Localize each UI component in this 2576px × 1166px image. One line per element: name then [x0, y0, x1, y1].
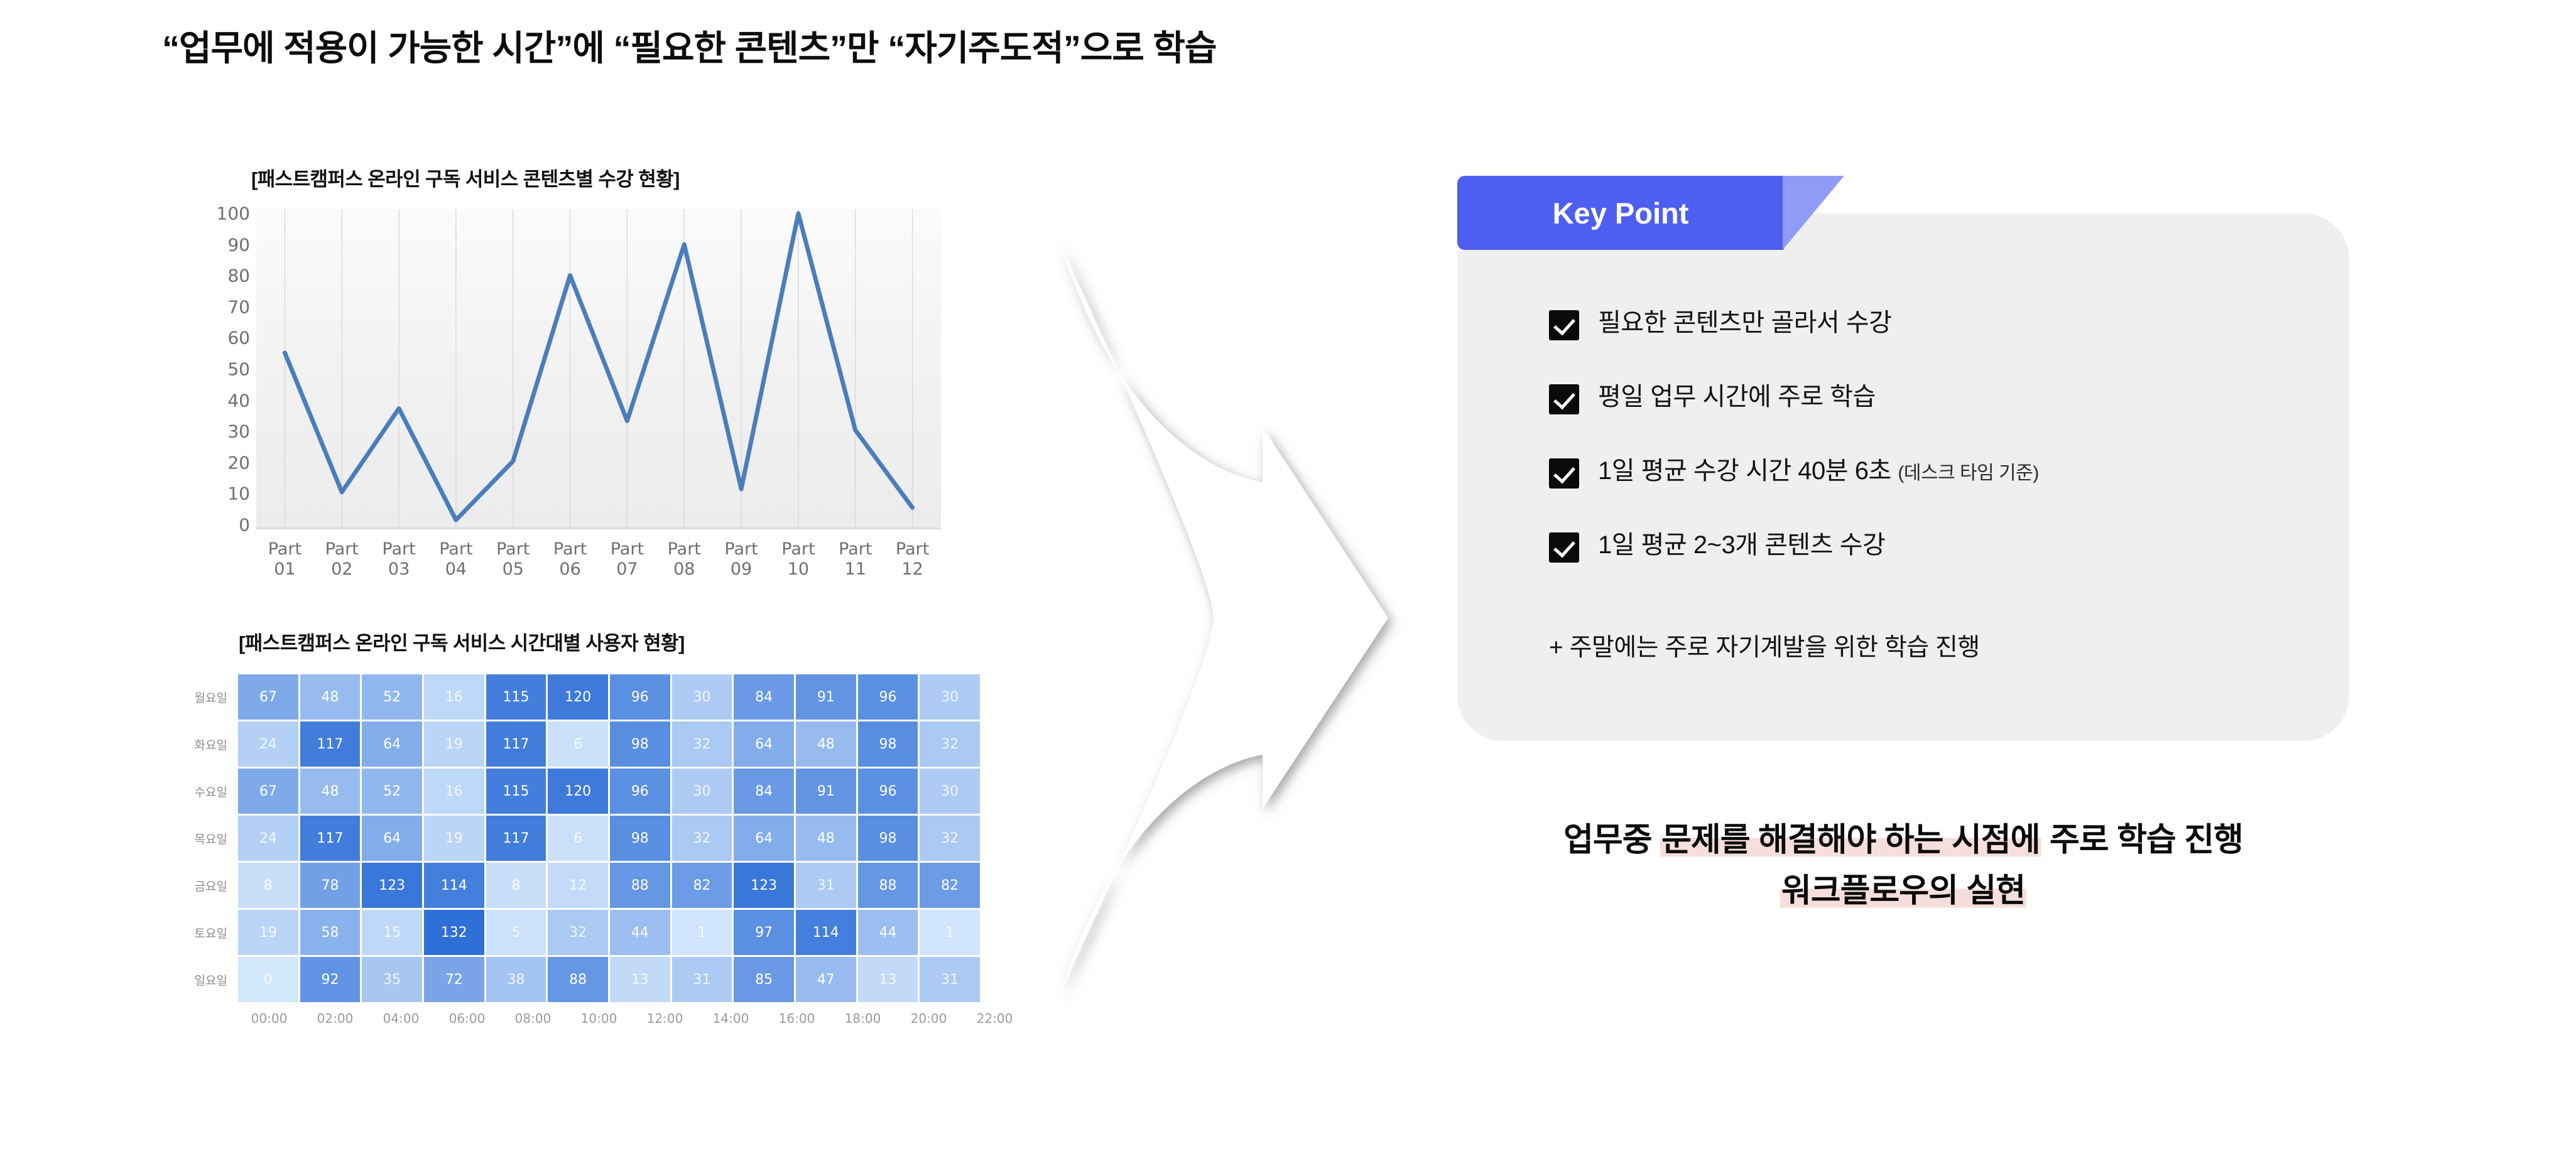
- heatmap-title: [패스트캠퍼스 온라인 구독 서비스 시간대별 사용자 현황]: [239, 627, 999, 656]
- line-chart-x-tick: Part 06: [553, 539, 587, 580]
- conclusion-line-2: 워크플로우의 실현: [1457, 866, 2349, 917]
- heatmap-cell: 132: [424, 910, 484, 955]
- line-chart-y-tick: 40: [227, 390, 250, 411]
- heatmap-cell: 64: [734, 721, 794, 767]
- heatmap-cell: 0: [238, 957, 298, 1002]
- conclusion-block: 업무중 문제를 해결해야 하는 시점에 주로 학습 진행 워크플로우의 실현: [1457, 815, 2349, 916]
- heatmap-row-label: 일요일: [188, 957, 236, 1002]
- heatmap-cell: 64: [362, 816, 422, 861]
- heatmap-cell: 120: [548, 674, 608, 720]
- heatmap-cell: 5: [486, 910, 546, 955]
- heatmap-cell: 88: [610, 863, 670, 908]
- line-chart-x-tick: Part 11: [839, 539, 872, 580]
- charts-column: [패스트캠퍼스 온라인 구독 서비스 콘텐츠별 수강 현황] 100908070…: [188, 163, 1018, 1026]
- heatmap-time-label: 16:00: [764, 1011, 830, 1026]
- key-point-item-label: 1일 평균 2~3개 콘텐츠 수강: [1598, 530, 1885, 560]
- line-chart-x-tick: Part 08: [668, 539, 701, 580]
- key-point-item: 1일 평균 2~3개 콘텐츠 수강: [1549, 530, 2349, 563]
- line-chart: 1009080706050403020100 Part 01Part 02Par…: [188, 209, 992, 586]
- heatmap-cell: 48: [300, 769, 361, 814]
- heatmap-cell: 35: [362, 957, 422, 1002]
- heatmap-cell: 117: [300, 816, 361, 861]
- key-point-item: 평일 업무 시간에 주로 학습: [1549, 382, 2349, 414]
- heatmap-cell: 30: [920, 769, 980, 814]
- line-chart-x-tick: Part 12: [896, 539, 929, 580]
- heatmap-time-label: 04:00: [368, 1011, 434, 1026]
- line-chart-y-tick: 90: [227, 234, 250, 255]
- heatmap-time-label: 10:00: [566, 1011, 632, 1026]
- heatmap-cell: 97: [734, 910, 794, 955]
- line-chart-x-tick: Part 04: [439, 539, 472, 580]
- heatmap-cell: 32: [672, 816, 732, 861]
- heatmap-row-label: 수요일: [188, 769, 236, 814]
- heatmap-cell: 98: [610, 721, 670, 767]
- heatmap-cell: 67: [238, 769, 298, 814]
- line-chart-x-tick: Part 03: [382, 539, 415, 580]
- heatmap-cell: 52: [362, 674, 422, 720]
- key-point-item-label: 필요한 콘텐츠만 골라서 수강: [1598, 308, 1891, 338]
- heatmap-time-label: 00:00: [236, 1011, 302, 1026]
- heatmap-cell: 123: [362, 863, 422, 908]
- heatmap-cell: 85: [734, 957, 794, 1002]
- heatmap-row-label: 토요일: [188, 910, 236, 955]
- conclusion-line-2-highlight: 워크플로우의 실현: [1780, 873, 2026, 909]
- conclusion-line-1-pre: 업무중: [1563, 822, 1660, 858]
- heatmap-cell: 117: [486, 721, 546, 767]
- heatmap-cell: 96: [610, 674, 670, 720]
- heatmap-cell: 91: [796, 769, 856, 814]
- key-point-badge-tail: [1783, 176, 1844, 250]
- line-chart-plot-area: [256, 209, 941, 529]
- line-chart-series: [285, 213, 912, 520]
- heatmap-time-label: 18:00: [830, 1011, 896, 1026]
- line-chart-title: [패스트캠퍼스 온라인 구독 서비스 콘텐츠별 수강 현황]: [251, 163, 1018, 192]
- heatmap-cell: 117: [300, 721, 361, 767]
- heatmap-time-label: 22:00: [962, 1011, 1028, 1026]
- key-point-item-label: 1일 평균 수강 시간 40분 6초 (데스크 타임 기준): [1598, 456, 2039, 486]
- key-point-item: 1일 평균 수강 시간 40분 6초 (데스크 타임 기준): [1549, 456, 2349, 489]
- heatmap-cell: 52: [362, 769, 422, 814]
- line-chart-y-tick: 70: [227, 296, 250, 317]
- key-point-label: Key Point: [1553, 196, 1689, 230]
- heatmap-cell: 82: [672, 863, 732, 908]
- line-chart-x-tick: Part 09: [724, 539, 758, 580]
- check-icon: [1549, 384, 1579, 414]
- line-chart-y-tick: 30: [227, 421, 250, 442]
- heatmap-cell: 64: [734, 816, 794, 861]
- line-chart-y-tick: 0: [239, 515, 250, 536]
- heatmap-cell: 6: [548, 816, 608, 861]
- heatmap-cell: 84: [734, 674, 794, 720]
- heatmap-cell: 1: [920, 910, 980, 955]
- heatmap-cell: 24: [238, 721, 298, 767]
- heatmap-time-label: 08:00: [500, 1011, 566, 1026]
- heatmap-cell: 67: [238, 674, 298, 720]
- line-chart-y-tick: 60: [227, 328, 250, 348]
- heatmap-cell: 12: [548, 863, 608, 908]
- right-arrow-icon: [1055, 220, 1407, 1017]
- heatmap-cell: 8: [486, 863, 546, 908]
- heatmap-cell: 47: [796, 957, 856, 1002]
- heatmap-cell: 114: [424, 863, 484, 908]
- heatmap-cell: 72: [424, 957, 484, 1002]
- line-chart-x-tick: Part 10: [781, 539, 815, 580]
- heatmap-cell: 88: [858, 863, 918, 908]
- page-title: “업무에 적용이 가능한 시간”에 “필요한 콘텐츠”만 “자기주도적”으로 학…: [162, 20, 1216, 71]
- conclusion-line-1: 업무중 문제를 해결해야 하는 시점에 주로 학습 진행: [1457, 815, 2349, 866]
- line-chart-section: [패스트캠퍼스 온라인 구독 서비스 콘텐츠별 수강 현황] 100908070…: [188, 163, 1018, 586]
- heatmap-cell: 48: [796, 816, 856, 861]
- line-chart-y-tick: 80: [227, 266, 250, 286]
- heatmap-cell: 30: [672, 769, 732, 814]
- check-icon: [1549, 458, 1579, 489]
- line-chart-y-tick: 100: [217, 203, 250, 224]
- line-chart-x-axis: Part 01Part 02Part 03Part 04Part 05Part …: [256, 536, 941, 586]
- check-icon: [1549, 532, 1579, 563]
- check-icon: [1549, 310, 1579, 340]
- heatmap-cell: 31: [920, 957, 980, 1002]
- heatmap-cell: 15: [362, 910, 422, 955]
- heatmap-cell: 96: [858, 769, 918, 814]
- heatmap-row-label: 월요일: [188, 674, 236, 720]
- heatmap-time-label: 12:00: [632, 1011, 698, 1026]
- heatmap-cell: 123: [734, 863, 794, 908]
- heatmap-cell: 82: [920, 863, 980, 908]
- line-chart-x-tick: Part 05: [496, 539, 530, 580]
- heatmap-cell: 19: [424, 721, 484, 767]
- heatmap-cell: 16: [424, 674, 484, 720]
- heatmap-time-label: 20:00: [896, 1011, 962, 1026]
- key-point-footnote: + 주말에는 주로 자기계발을 위한 학습 진행: [1549, 628, 2349, 663]
- heatmap-cell: 58: [300, 910, 361, 955]
- heatmap-time-label: 06:00: [434, 1011, 500, 1026]
- heatmap-cell: 31: [672, 957, 732, 1002]
- heatmap-cell: 48: [300, 674, 361, 720]
- heatmap-cell: 30: [672, 674, 732, 720]
- conclusion-line-1-post: 주로 학습 진행: [2041, 822, 2243, 858]
- heatmap-cell: 13: [610, 957, 670, 1002]
- keypoint-column: Key Point 필요한 콘텐츠만 골라서 수강평일 업무 시간에 주로 학습…: [1457, 176, 2368, 916]
- heatmap-cell: 16: [424, 769, 484, 814]
- line-chart-y-tick: 20: [227, 452, 250, 473]
- heatmap-grid: 월요일67485216115120963084919630화요일24117641…: [188, 674, 980, 1002]
- heatmap-time-axis: 00:0002:0004:0006:0008:0010:0012:0014:00…: [236, 1011, 1028, 1026]
- heatmap-cell: 92: [300, 957, 361, 1002]
- heatmap-cell: 98: [858, 816, 918, 861]
- heatmap-cell: 114: [796, 910, 856, 955]
- heatmap-cell: 8: [238, 863, 298, 908]
- key-point-item-note: (데스크 타임 기준): [1898, 463, 2038, 483]
- heatmap-cell: 96: [610, 769, 670, 814]
- key-point-item-label: 평일 업무 시간에 주로 학습: [1598, 382, 1876, 412]
- line-chart-x-tick: Part 01: [268, 539, 302, 580]
- heatmap-cell: 32: [548, 910, 608, 955]
- heatmap-cell: 19: [424, 816, 484, 861]
- line-chart-y-axis: 1009080706050403020100: [188, 209, 254, 529]
- heatmap-cell: 115: [486, 674, 546, 720]
- key-point-badge: Key Point: [1457, 176, 1784, 250]
- heatmap-cell: 32: [672, 721, 732, 767]
- heatmap-cell: 88: [548, 957, 608, 1002]
- heatmap-cell: 24: [238, 816, 298, 861]
- heatmap-cell: 64: [362, 721, 422, 767]
- line-chart-y-tick: 10: [227, 483, 250, 504]
- heatmap-cell: 98: [610, 816, 670, 861]
- heatmap-cell: 115: [486, 769, 546, 814]
- heatmap-cell: 32: [920, 816, 980, 861]
- heatmap-cell: 78: [300, 863, 361, 908]
- heatmap-cell: 19: [238, 910, 298, 955]
- heatmap-cell: 30: [920, 674, 980, 720]
- heatmap-cell: 32: [920, 721, 980, 767]
- heatmap-cell: 120: [548, 769, 608, 814]
- key-point-badge-body: Key Point: [1457, 176, 1784, 250]
- line-chart-svg: [256, 209, 941, 527]
- heatmap-row-label: 화요일: [188, 721, 236, 767]
- heatmap-cell: 48: [796, 721, 856, 767]
- heatmap-cell: 1: [672, 910, 732, 955]
- key-point-card: 필요한 콘텐츠만 골라서 수강평일 업무 시간에 주로 학습1일 평균 수강 시…: [1457, 213, 2349, 741]
- key-point-checklist: 필요한 콘텐츠만 골라서 수강평일 업무 시간에 주로 학습1일 평균 수강 시…: [1457, 308, 2349, 563]
- heatmap-cell: 13: [858, 957, 918, 1002]
- heatmap-cell: 38: [486, 957, 546, 1002]
- heatmap-time-label: 02:00: [302, 1011, 368, 1026]
- line-chart-x-tick: Part 07: [611, 539, 644, 580]
- line-chart-x-tick: Part 02: [325, 539, 359, 580]
- heatmap-cell: 31: [796, 863, 856, 908]
- heatmap-section: [패스트캠퍼스 온라인 구독 서비스 시간대별 사용자 현황] 월요일67485…: [188, 627, 999, 1026]
- conclusion-line-1-highlight: 문제를 해결해야 하는 시점에: [1660, 822, 2041, 858]
- heatmap-time-label: 14:00: [698, 1011, 764, 1026]
- heatmap-cell: 84: [734, 769, 794, 814]
- heatmap-cell: 117: [486, 816, 546, 861]
- heatmap-cell: 96: [858, 674, 918, 720]
- key-point-item: 필요한 콘텐츠만 골라서 수강: [1549, 308, 2349, 340]
- heatmap-row-label: 목요일: [188, 816, 236, 861]
- heatmap-cell: 44: [610, 910, 670, 955]
- heatmap-cell: 98: [858, 721, 918, 767]
- heatmap-cell: 44: [858, 910, 918, 955]
- heatmap-cell: 91: [796, 674, 856, 720]
- heatmap-row-label: 금요일: [188, 863, 236, 908]
- line-chart-y-tick: 50: [227, 359, 250, 380]
- heatmap-cell: 6: [548, 721, 608, 767]
